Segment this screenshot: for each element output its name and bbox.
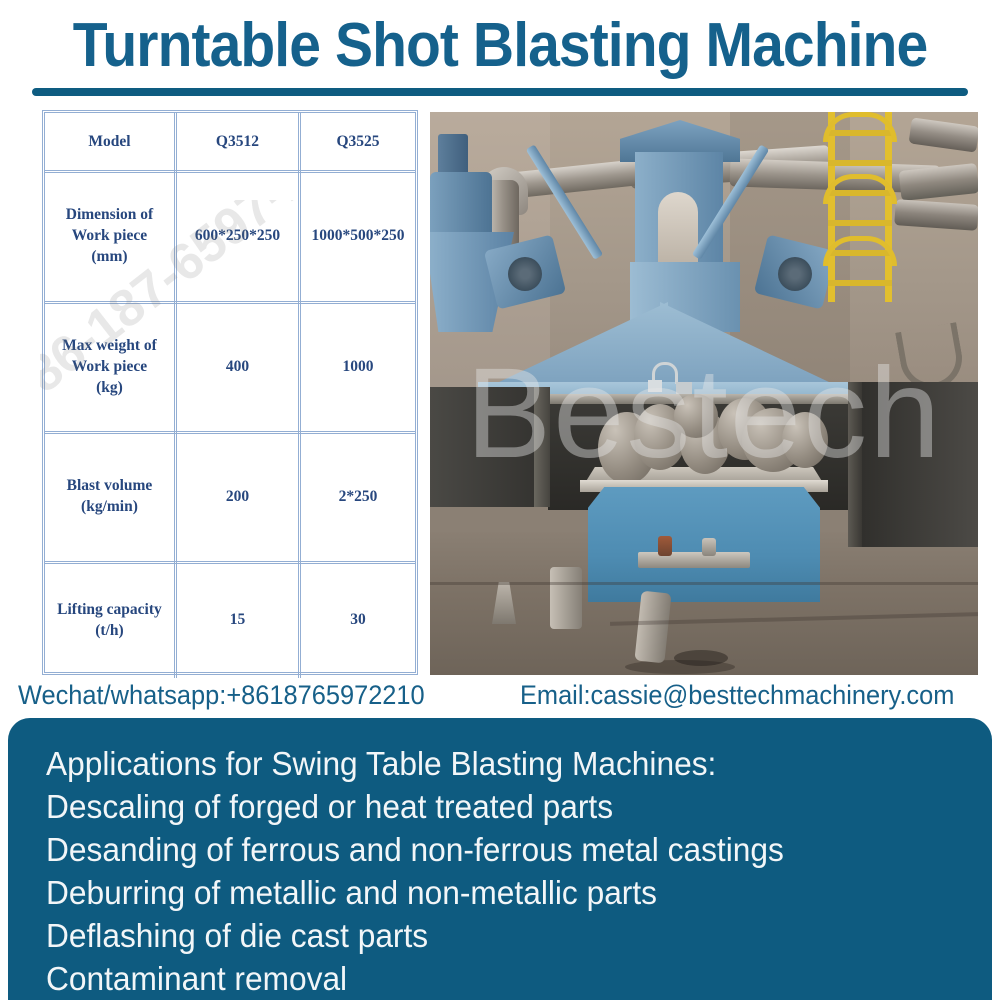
table-row: Model Q3512 Q3525 bbox=[45, 113, 415, 170]
table-cell-q3512: 600*250*250 bbox=[177, 170, 301, 301]
title-divider bbox=[32, 88, 968, 96]
title-block: Turntable Shot Blasting Machine bbox=[0, 0, 1000, 108]
application-item: Descaling of forged or heat treated part… bbox=[46, 785, 954, 828]
workpiece-fitting bbox=[782, 412, 828, 468]
floor-workpiece bbox=[550, 567, 582, 629]
page-title: Turntable Shot Blasting Machine bbox=[40, 12, 960, 80]
turntable-bracket bbox=[638, 552, 750, 568]
application-item: Desanding of ferrous and non-ferrous met… bbox=[46, 828, 954, 871]
motor-housing bbox=[430, 172, 492, 238]
table-cell-label: Max weight of Work piece (kg) bbox=[45, 301, 177, 431]
table-cell-q3512: 400 bbox=[177, 301, 301, 431]
table-cell-label: Dimension of Work piece (mm) bbox=[45, 170, 177, 301]
table-cell-q3525: 2*250 bbox=[301, 431, 415, 561]
label-line: Dimension of bbox=[66, 206, 153, 223]
label-line: Work piece bbox=[72, 227, 147, 244]
floor-shadow bbox=[674, 650, 728, 666]
table-cell-q3525: Q3525 bbox=[301, 113, 415, 170]
table-cell-q3512: 200 bbox=[177, 431, 301, 561]
table-row: Dimension of Work piece (mm) 600*250*250… bbox=[45, 170, 415, 301]
table-row: Blast volume (kg/min) 200 2*250 bbox=[45, 431, 415, 561]
label-line: (kg) bbox=[96, 379, 123, 396]
label-line: Blast volume bbox=[67, 477, 153, 494]
chamber-door-left bbox=[430, 387, 548, 507]
machine-photo: Bestech bbox=[430, 112, 978, 675]
ladder-rung bbox=[828, 280, 892, 286]
table-cell-q3525: 1000 bbox=[301, 301, 415, 431]
applications-heading: Applications for Swing Table Blasting Ma… bbox=[46, 742, 954, 785]
table-cell-label: Model bbox=[45, 113, 177, 170]
motor-housing bbox=[438, 134, 468, 176]
label-line: (t/h) bbox=[95, 622, 123, 639]
label-line: (mm) bbox=[91, 248, 127, 265]
table-cell-q3525: 1000*500*250 bbox=[301, 170, 415, 301]
table-cell-q3512: 15 bbox=[177, 561, 301, 678]
contact-wechat[interactable]: Wechat/whatsapp:+8618765972210 bbox=[18, 678, 425, 712]
chamber-door-right bbox=[850, 382, 978, 547]
turntable-bolt bbox=[702, 538, 716, 556]
spec-table: Model Q3512 Q3525 Dimension of Work piec… bbox=[42, 110, 418, 675]
table-cell-label: Lifting capacity (t/h) bbox=[45, 561, 177, 678]
application-item: Deburring of metallic and non-metallic p… bbox=[46, 871, 954, 914]
ladder-rung bbox=[828, 220, 892, 226]
contact-email[interactable]: Email:cassie@besttechmachinery.com bbox=[520, 678, 954, 712]
turntable-bolt bbox=[658, 536, 672, 556]
table-row: Max weight of Work piece (kg) 400 1000 bbox=[45, 301, 415, 431]
label-line: Max weight of bbox=[62, 337, 157, 354]
door-latch-box bbox=[676, 382, 692, 394]
door-latch-box bbox=[648, 380, 662, 392]
chamber-door-right-edge bbox=[848, 382, 862, 547]
ladder-rung bbox=[828, 160, 892, 166]
workpiece-fitting bbox=[674, 394, 718, 438]
blast-wheel-hub bbox=[508, 257, 542, 291]
table-cell-q3512: Q3512 bbox=[177, 113, 301, 170]
table-cell-label: Blast volume (kg/min) bbox=[45, 431, 177, 561]
blast-wheel-hub bbox=[778, 257, 812, 291]
label-line: Work piece bbox=[72, 358, 147, 375]
chamber-door-left-edge bbox=[534, 387, 550, 507]
application-item: Deflashing of die cast parts bbox=[46, 914, 954, 957]
table-row: Lifting capacity (t/h) 15 30 bbox=[45, 561, 415, 678]
floor-crack bbox=[430, 582, 978, 585]
label-line: Lifting capacity bbox=[57, 601, 162, 618]
table-cell-q3525: 30 bbox=[301, 561, 415, 678]
application-item: Contaminant removal bbox=[46, 957, 954, 1000]
contact-row: Wechat/whatsapp:+8618765972210 Email:cas… bbox=[0, 676, 1000, 716]
applications-panel: Applications for Swing Table Blasting Ma… bbox=[8, 718, 992, 1000]
label-line: (kg/min) bbox=[81, 498, 138, 515]
